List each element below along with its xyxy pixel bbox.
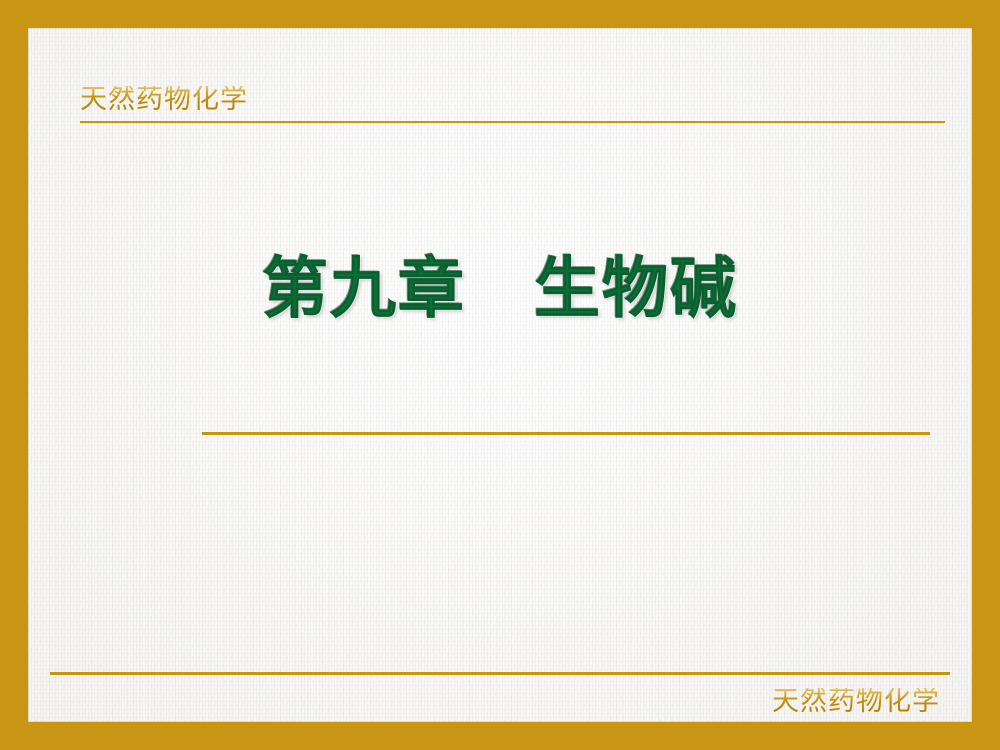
header-underline-rule	[80, 121, 945, 123]
slide-paper-background	[28, 28, 972, 722]
slide-canvas: 天然药物化学 第九章 生物碱 天然药物化学	[0, 0, 1000, 750]
slide-main-title: 第九章 生物碱	[0, 255, 1000, 324]
title-divider-rule	[202, 432, 930, 435]
footer-divider-rule	[50, 672, 950, 675]
slide-header-title: 天然药物化学	[80, 86, 248, 113]
slide-footer-title: 天然药物化学	[772, 688, 940, 715]
